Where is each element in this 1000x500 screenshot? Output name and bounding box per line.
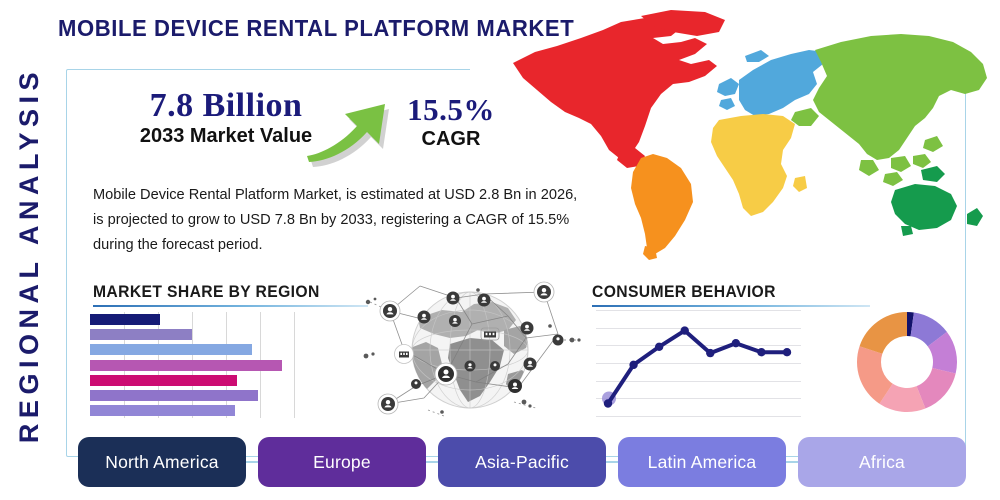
growth-arrow-icon bbox=[305, 82, 415, 167]
line-chart-point bbox=[783, 348, 791, 356]
network-globe-illustration bbox=[358, 278, 583, 423]
region-pill-latin-america[interactable]: Latin America bbox=[618, 437, 786, 487]
line-chart-point bbox=[681, 326, 689, 334]
section-divider-market-share bbox=[93, 305, 368, 307]
section-divider-consumer-behavior bbox=[592, 305, 870, 307]
infographic-root: REGIONAL ANALYSIS MOBILE DEVICE RENTAL P… bbox=[0, 0, 1000, 500]
bar-chart-bar bbox=[90, 375, 237, 386]
section-title-market-share: MARKET SHARE BY REGION bbox=[93, 283, 320, 302]
consumer-behavior-line-chart bbox=[596, 310, 801, 418]
region-pill-connector bbox=[786, 461, 798, 463]
map-region-north-america bbox=[513, 10, 725, 174]
segment-donut-chart bbox=[855, 310, 959, 414]
world-map bbox=[495, 8, 995, 270]
market-share-bar-chart bbox=[90, 312, 315, 418]
bar-chart-gridline bbox=[294, 312, 295, 418]
bar-chart-bar bbox=[90, 390, 258, 401]
region-pill-africa[interactable]: Africa bbox=[798, 437, 966, 487]
line-chart-point bbox=[655, 343, 663, 351]
bar-chart-bar bbox=[90, 360, 282, 371]
map-region-south-america bbox=[631, 154, 693, 260]
line-chart-point bbox=[604, 399, 612, 407]
bar-chart-bar bbox=[90, 344, 252, 355]
donut-segment bbox=[860, 312, 907, 354]
section-title-consumer-behavior: CONSUMER BEHAVIOR bbox=[592, 283, 776, 302]
region-pill-bar: North AmericaEuropeAsia-PacificLatin Ame… bbox=[78, 437, 966, 487]
line-chart-svg bbox=[596, 310, 801, 418]
bar-chart-bar bbox=[90, 314, 160, 325]
region-pill-connector bbox=[426, 461, 438, 463]
side-label-text: REGIONAL ANALYSIS bbox=[16, 67, 43, 443]
bar-chart-bar bbox=[90, 329, 192, 340]
line-chart-point bbox=[629, 361, 637, 369]
region-pill-connector bbox=[606, 461, 618, 463]
map-region-asia bbox=[791, 34, 987, 186]
map-region-africa bbox=[711, 114, 807, 216]
line-chart-point bbox=[757, 348, 765, 356]
region-pill-connector bbox=[246, 461, 258, 463]
kpi-row: 7.8 Billion 2033 Market Value 15.5% CAGR bbox=[86, 88, 516, 168]
line-chart-point bbox=[732, 339, 740, 347]
region-pill-asia-pacific[interactable]: Asia-Pacific bbox=[438, 437, 606, 487]
donut-chart-svg bbox=[855, 310, 959, 414]
map-region-oceania bbox=[891, 166, 983, 236]
region-pill-north-america[interactable]: North America bbox=[78, 437, 246, 487]
bar-chart-bar bbox=[90, 405, 235, 416]
regional-analysis-side-label: REGIONAL ANALYSIS bbox=[6, 60, 52, 450]
region-pill-europe[interactable]: Europe bbox=[258, 437, 426, 487]
map-region-europe bbox=[717, 50, 825, 116]
line-chart-point bbox=[706, 349, 714, 357]
